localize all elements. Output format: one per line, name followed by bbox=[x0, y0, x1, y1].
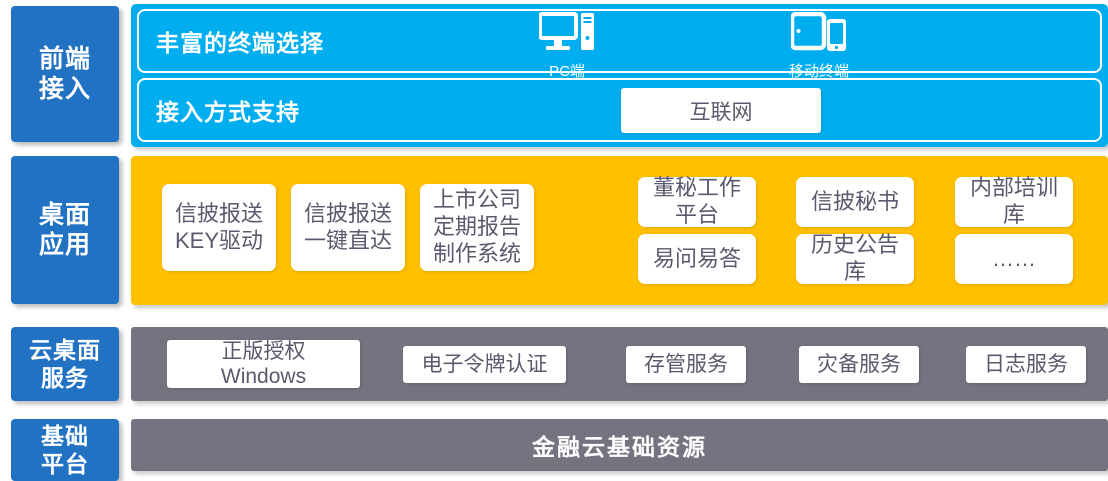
app-card-secretary-platform[interactable]: 董秘工作 平台 bbox=[638, 177, 756, 227]
terminal-mobile[interactable]: 移动终端 bbox=[789, 12, 849, 81]
terminal-pc[interactable]: PC端 bbox=[539, 12, 595, 81]
architecture-diagram: 前端 接入 桌面 应用 云桌面 服务 基础 平台 丰富的终端选择 bbox=[0, 0, 1108, 481]
service-card-token-auth[interactable]: 电子令牌认证 bbox=[403, 346, 566, 383]
service-card-disaster-recovery[interactable]: 灾备服务 bbox=[799, 346, 919, 383]
access-method-title: 接入方式支持 bbox=[156, 93, 300, 127]
sidebar-item-cloud-desktop-service[interactable]: 云桌面 服务 bbox=[11, 327, 119, 401]
service-card-licensed-windows[interactable]: 正版授权 Windows bbox=[167, 340, 360, 388]
foundation-band: 金融云基础资源 bbox=[131, 419, 1108, 471]
service-card-logging[interactable]: 日志服务 bbox=[966, 346, 1086, 383]
terminal-selection-row: 丰富的终端选择 PC端 bbox=[137, 9, 1102, 73]
service-card-custody[interactable]: 存管服务 bbox=[626, 346, 746, 383]
app-card-key-driver[interactable]: 信披报送 KEY驱动 bbox=[162, 184, 276, 271]
desktop-apps-band: 信披报送 KEY驱动 信披报送 一键直达 上市公司 定期报告 制作系统 董秘工作… bbox=[131, 156, 1108, 305]
terminal-selection-title: 丰富的终端选择 bbox=[156, 24, 324, 58]
sidebar-item-frontend-access[interactable]: 前端 接入 bbox=[11, 6, 119, 142]
sidebar-item-desktop-apps[interactable]: 桌面 应用 bbox=[11, 156, 119, 304]
foundation-label: 金融云基础资源 bbox=[532, 428, 707, 462]
app-card-easy-qa[interactable]: 易问易答 bbox=[638, 234, 756, 284]
desktop-computer-icon bbox=[539, 12, 595, 59]
cloud-services-band: 正版授权 Windows 电子令牌认证 存管服务 灾备服务 日志服务 bbox=[131, 327, 1108, 401]
access-method-internet[interactable]: 互联网 bbox=[621, 88, 821, 133]
app-card-training-library[interactable]: 内部培训 库 bbox=[955, 177, 1073, 227]
app-card-history-announcements[interactable]: 历史公告 库 bbox=[796, 234, 914, 284]
sidebar-item-foundation-platform[interactable]: 基础 平台 bbox=[11, 419, 119, 481]
app-card-one-click[interactable]: 信披报送 一键直达 bbox=[291, 184, 405, 271]
access-layer-band: 丰富的终端选择 PC端 bbox=[131, 4, 1108, 147]
app-card-periodic-report[interactable]: 上市公司 定期报告 制作系统 bbox=[420, 184, 534, 271]
access-method-row: 接入方式支持 互联网 bbox=[137, 78, 1102, 142]
app-card-more[interactable]: …… bbox=[955, 234, 1073, 284]
app-card-disclosure-secretary[interactable]: 信披秘书 bbox=[796, 177, 914, 227]
tablet-phone-icon bbox=[791, 12, 847, 59]
